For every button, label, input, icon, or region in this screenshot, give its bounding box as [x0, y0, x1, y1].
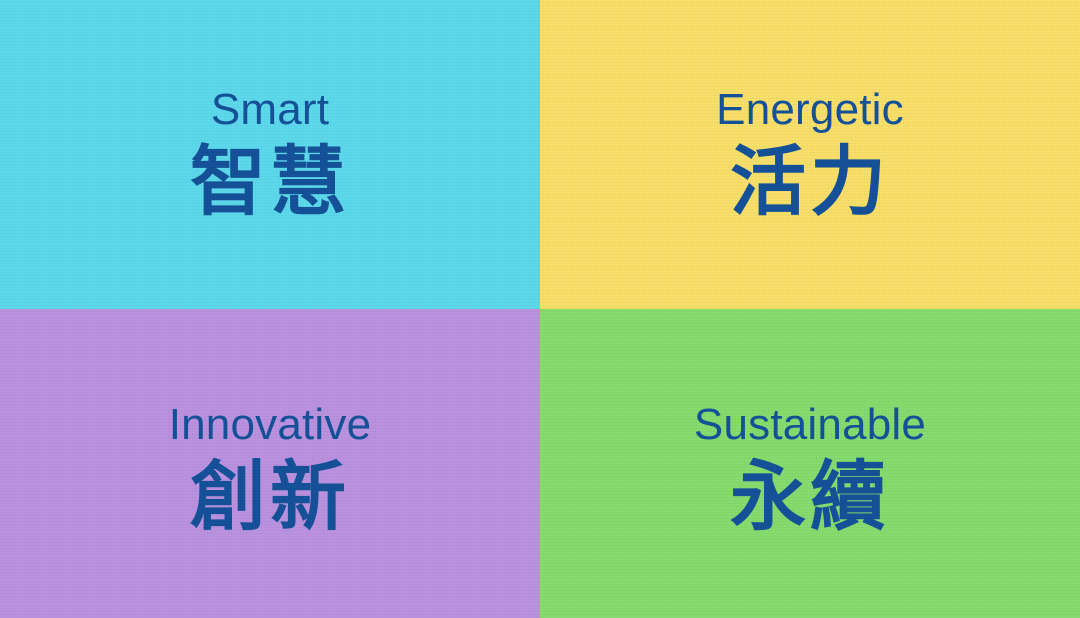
quadrant-sustainable: Sustainable 永續 — [540, 309, 1080, 618]
quadrant-innovative-chinese-label: 創新 — [190, 459, 350, 535]
quadrant-innovative-english-label: Innovative — [169, 403, 372, 447]
brand-values-grid: Smart 智慧 Energetic 活力 Innovative 創新 Sust… — [0, 0, 1080, 618]
quadrant-smart: Smart 智慧 — [0, 0, 540, 309]
quadrant-energetic: Energetic 活力 — [540, 0, 1080, 309]
quadrant-sustainable-content: Sustainable 永續 — [694, 403, 926, 535]
quadrant-energetic-chinese-label: 活力 — [730, 144, 890, 220]
quadrant-sustainable-english-label: Sustainable — [694, 403, 926, 447]
quadrant-smart-chinese-label: 智慧 — [190, 144, 350, 220]
quadrant-energetic-content: Energetic 活力 — [716, 88, 904, 220]
quadrant-energetic-english-label: Energetic — [716, 88, 904, 132]
quadrant-grid: Smart 智慧 Energetic 活力 Innovative 創新 Sust… — [0, 0, 1080, 618]
quadrant-innovative-content: Innovative 創新 — [169, 403, 372, 535]
quadrant-sustainable-chinese-label: 永續 — [730, 459, 890, 535]
quadrant-smart-content: Smart 智慧 — [190, 88, 350, 220]
quadrant-innovative: Innovative 創新 — [0, 309, 540, 618]
quadrant-smart-english-label: Smart — [211, 88, 329, 132]
